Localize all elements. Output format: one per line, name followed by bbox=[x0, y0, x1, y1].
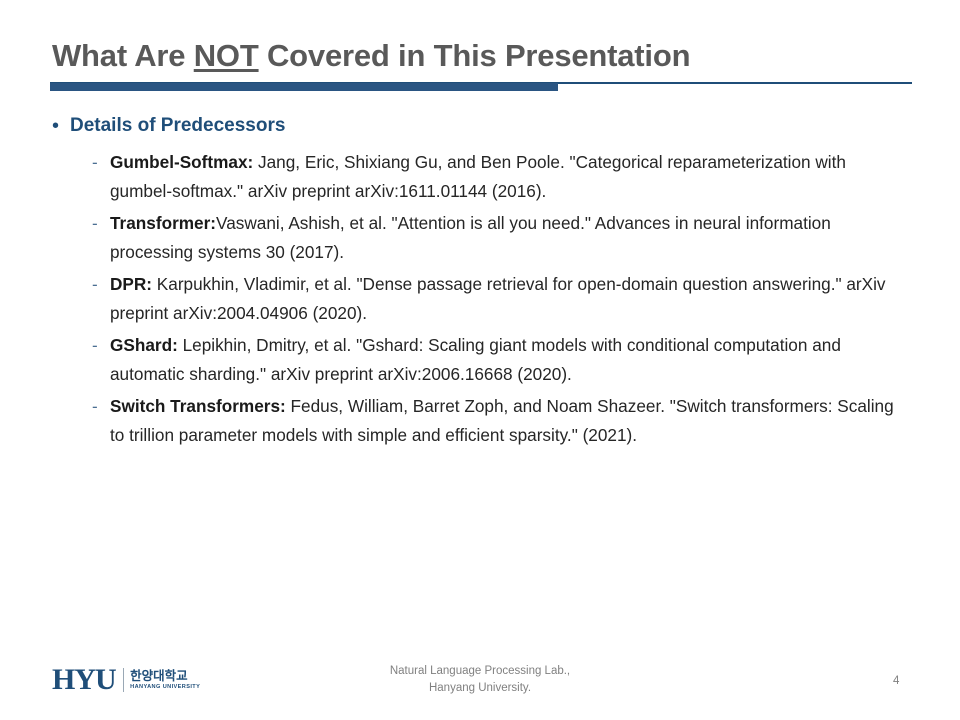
list-item: - GShard: Lepikhin, Dmitry, et al. "Gsha… bbox=[92, 331, 932, 389]
reference-separator: : bbox=[172, 335, 183, 355]
list-item: - Gumbel-Softmax: Jang, Eric, Shixiang G… bbox=[92, 148, 932, 206]
reference-label: GShard bbox=[110, 335, 172, 355]
reference-label: Switch Transformers bbox=[110, 396, 280, 416]
title-block: What Are NOT Covered in This Presentatio… bbox=[52, 36, 922, 76]
dash-bullet-icon: - bbox=[92, 270, 110, 299]
bullet-icon: • bbox=[52, 112, 70, 140]
reference-text: Transformer:Vaswani, Ashish, et al. "Att… bbox=[110, 209, 910, 267]
reference-citation: Lepikhin, Dmitry, et al. "Gshard: Scalin… bbox=[110, 335, 841, 384]
reference-separator: : bbox=[248, 152, 259, 172]
dash-bullet-icon: - bbox=[92, 331, 110, 360]
dash-bullet-icon: - bbox=[92, 392, 110, 421]
dash-bullet-icon: - bbox=[92, 148, 110, 177]
title-emphasis-not: NOT bbox=[194, 38, 259, 73]
reference-separator: : bbox=[280, 396, 291, 416]
reference-citation: Vaswani, Ashish, et al. "Attention is al… bbox=[110, 213, 831, 262]
slide-canvas: What Are NOT Covered in This Presentatio… bbox=[0, 0, 960, 720]
reference-label: Gumbel-Softmax bbox=[110, 152, 248, 172]
section-heading: • Details of Predecessors bbox=[52, 112, 932, 140]
slide-body: • Details of Predecessors - Gumbel-Softm… bbox=[52, 112, 932, 453]
reference-text: DPR: Karpukhin, Vladimir, et al. "Dense … bbox=[110, 270, 910, 328]
reference-label: DPR bbox=[110, 274, 146, 294]
section-heading-label: Details of Predecessors bbox=[70, 112, 285, 140]
title-divider bbox=[50, 82, 912, 92]
reference-text: Gumbel-Softmax: Jang, Eric, Shixiang Gu,… bbox=[110, 148, 910, 206]
reference-label: Transformer bbox=[110, 213, 210, 233]
reference-text: GShard: Lepikhin, Dmitry, et al. "Gshard… bbox=[110, 331, 910, 389]
reference-text: Switch Transformers: Fedus, William, Bar… bbox=[110, 392, 910, 450]
reference-list: - Gumbel-Softmax: Jang, Eric, Shixiang G… bbox=[92, 148, 932, 450]
list-item: - Transformer:Vaswani, Ashish, et al. "A… bbox=[92, 209, 932, 267]
page-title: What Are NOT Covered in This Presentatio… bbox=[52, 36, 922, 76]
reference-separator: : bbox=[146, 274, 157, 294]
page-number: 4 bbox=[893, 674, 899, 688]
footer-affiliation: Natural Language Processing Lab., Hanyan… bbox=[0, 663, 960, 697]
footer-line-2: Hanyang University. bbox=[0, 680, 960, 697]
dash-bullet-icon: - bbox=[92, 209, 110, 238]
divider-thick-bar bbox=[50, 83, 558, 91]
title-part-2: Covered in This Presentation bbox=[259, 38, 691, 73]
list-item: - Switch Transformers: Fedus, William, B… bbox=[92, 392, 932, 450]
reference-citation: Karpukhin, Vladimir, et al. "Dense passa… bbox=[110, 274, 886, 323]
list-item: - DPR: Karpukhin, Vladimir, et al. "Dens… bbox=[92, 270, 932, 328]
title-part-1: What Are bbox=[52, 38, 194, 73]
footer-line-1: Natural Language Processing Lab., bbox=[390, 665, 570, 677]
